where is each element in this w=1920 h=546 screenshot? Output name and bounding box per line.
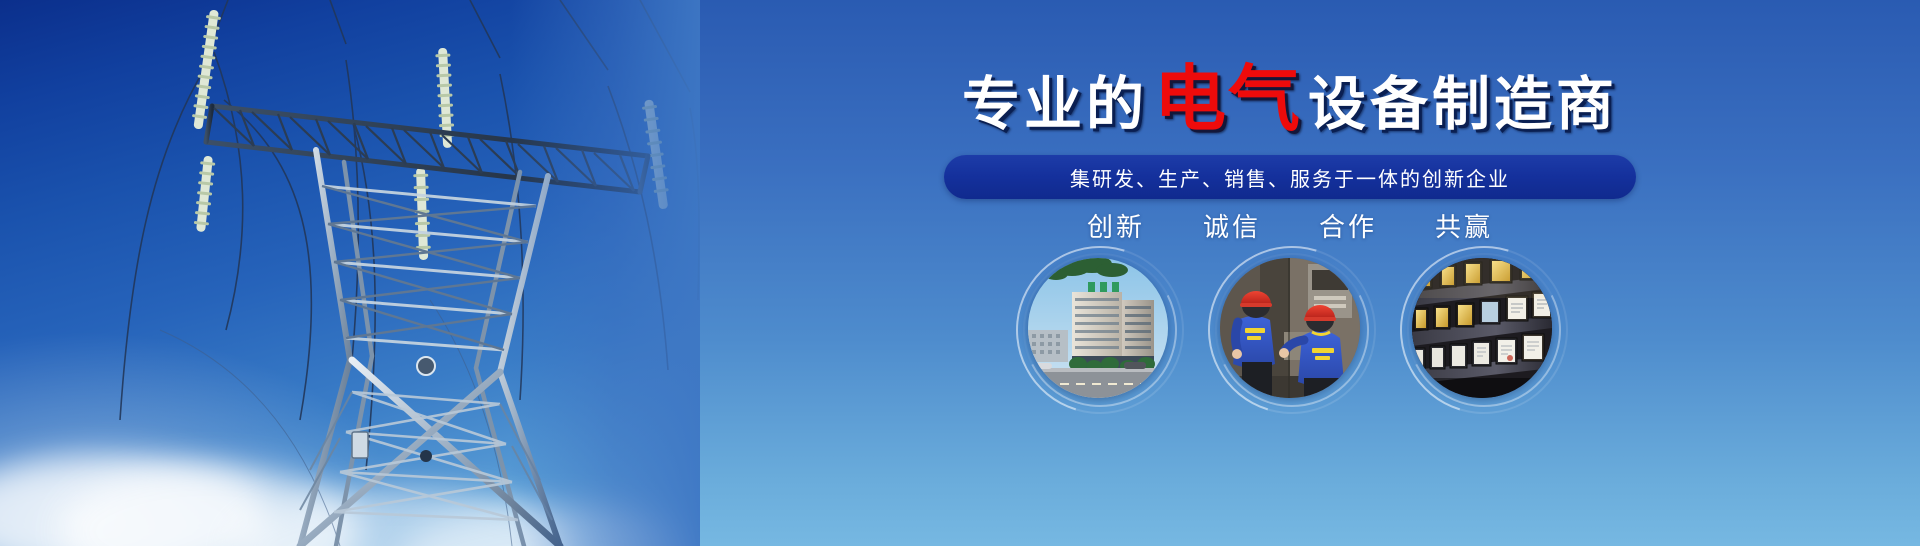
page-title: 专业的电气设备制造商 bbox=[660, 64, 1920, 136]
keyword-cooperation: 合作 bbox=[1319, 207, 1377, 244]
keyword-list: 创新 诚信 合作 共赢 bbox=[660, 207, 1920, 244]
subtitle-badge: 集研发、生产、销售、服务于一体的创新企业 bbox=[944, 155, 1636, 199]
keyword-winwin: 共赢 bbox=[1435, 207, 1493, 244]
office-building-photo bbox=[1028, 258, 1168, 398]
headline-part-2: 设备制造商 bbox=[1308, 72, 1618, 137]
engineers-installing-photo bbox=[1220, 258, 1360, 398]
feature-photo-engineers[interactable] bbox=[1220, 258, 1360, 398]
subtitle-text: 集研发、生产、销售、服务于一体的创新企业 bbox=[1070, 163, 1510, 192]
feature-photo-list bbox=[660, 258, 1920, 398]
keyword-integrity: 诚信 bbox=[1203, 207, 1261, 244]
transmission-tower-photo bbox=[0, 0, 700, 546]
banner-content: 专业的电气设备制造商 集研发、生产、销售、服务于一体的创新企业 创新 诚信 合作… bbox=[660, 0, 1920, 546]
headline-highlight: 电气 bbox=[1148, 60, 1308, 140]
certificates-wall-photo bbox=[1412, 258, 1552, 398]
headline-part-1: 专业的 bbox=[962, 72, 1148, 137]
feature-photo-office-building[interactable] bbox=[1028, 258, 1168, 398]
feature-photo-certificates[interactable] bbox=[1412, 258, 1552, 398]
keyword-innovation: 创新 bbox=[1087, 207, 1145, 244]
tower-structure-illustration bbox=[0, 0, 700, 546]
hero-banner: 专业的电气设备制造商 集研发、生产、销售、服务于一体的创新企业 创新 诚信 合作… bbox=[0, 0, 1920, 546]
